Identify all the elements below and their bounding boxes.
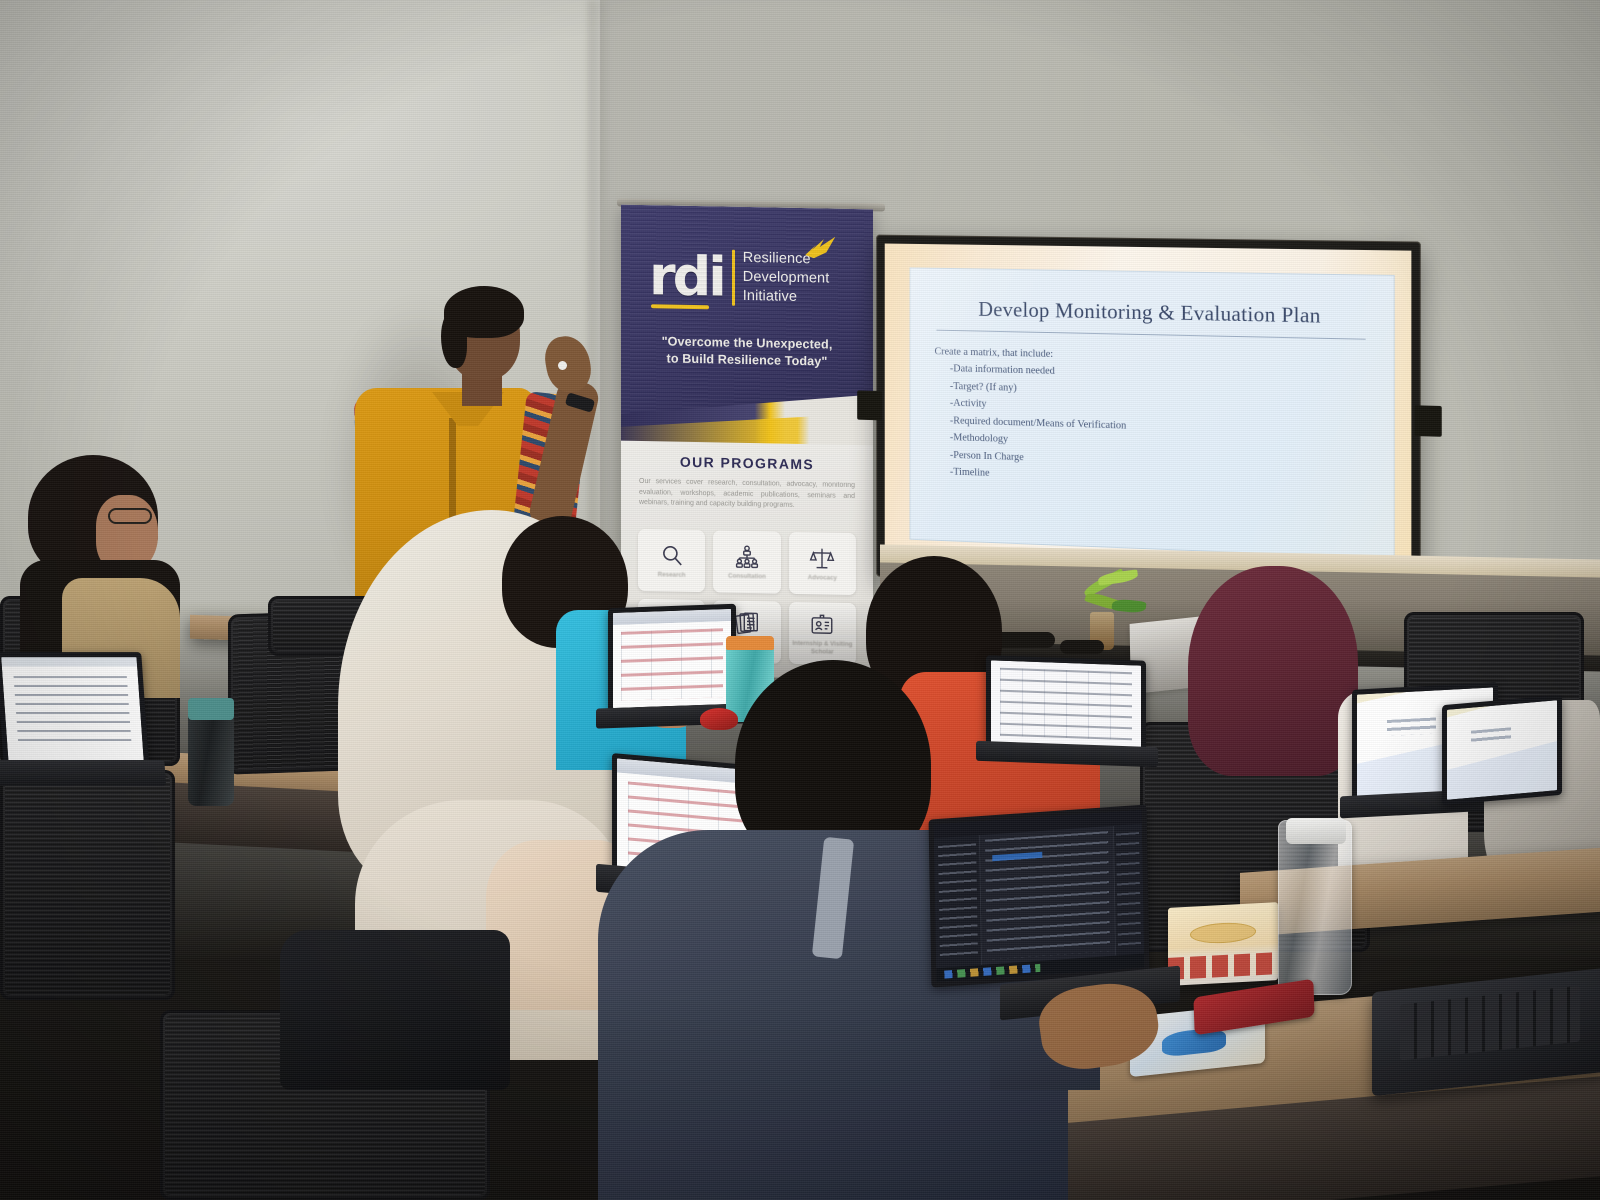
tagline-line-1: "Overcome the Unexpected, — [635, 333, 859, 354]
program-tile-advocacy: Advocacy — [789, 532, 856, 595]
slide-divider — [936, 330, 1365, 340]
programs-description: Our services cover research, consultatio… — [639, 477, 855, 513]
tumbler-dark-lid — [188, 698, 234, 720]
presenter-hair-side — [441, 310, 467, 368]
scales-icon — [809, 545, 835, 571]
slide-title: Develop Monitoring & Evaluation Plan — [934, 296, 1367, 329]
laptop-center-back[interactable] — [986, 655, 1146, 753]
backpack — [280, 930, 510, 1090]
photo-scene: rdi Resilience Development Initiative "O… — [0, 0, 1600, 1200]
mouse-red[interactable] — [700, 708, 738, 730]
wing-icon — [805, 236, 835, 259]
laptop-foreground[interactable] — [929, 804, 1150, 987]
display-mount-right — [1415, 405, 1442, 437]
program-tile-research: Research — [638, 529, 705, 592]
water-jug-cap — [1286, 818, 1346, 844]
presenter-finger-gap — [558, 361, 567, 370]
org-line-2: Development — [743, 268, 830, 289]
org-line-3: Initiative — [743, 287, 830, 308]
water-jug[interactable] — [1278, 820, 1352, 995]
tissue-box-label — [1190, 921, 1256, 944]
banner-tagline: "Overcome the Unexpected, to Build Resil… — [621, 333, 873, 372]
programs-title: OUR PROGRAMS — [621, 453, 873, 474]
tissue-box[interactable] — [1168, 902, 1278, 986]
magnifier-icon — [659, 542, 685, 568]
program-tile-consultation: Consultation — [713, 530, 780, 593]
laptop-right-edge[interactable] — [1442, 695, 1562, 805]
display-mount-left — [857, 390, 882, 420]
tagline-line-2: to Build Resilience Today" — [635, 350, 859, 371]
tumbler-teal-lid — [726, 636, 774, 650]
display-panel: Develop Monitoring & Evaluation Plan Cre… — [885, 244, 1412, 591]
participant-maroon-hijab — [1188, 566, 1358, 776]
people-group-icon — [734, 544, 760, 570]
org-line-1: Resilience — [743, 249, 830, 270]
rdi-logo: rdi Resilience Development Initiative — [649, 247, 829, 307]
program-label: Consultation — [728, 572, 766, 580]
glasses-icon — [108, 508, 152, 524]
organization-name: Resilience Development Initiative — [743, 249, 830, 308]
logo-divider-bar — [732, 249, 735, 305]
program-label: Advocacy — [808, 574, 837, 582]
tissue-box-band — [1168, 952, 1278, 980]
presentation-slide: Develop Monitoring & Evaluation Plan Cre… — [910, 267, 1395, 559]
laptop-left-base[interactable] — [0, 760, 166, 786]
program-label: Research — [658, 571, 686, 579]
logo-underline — [651, 304, 709, 309]
office-chair[interactable] — [0, 770, 175, 1000]
laptop-turquoise[interactable] — [608, 604, 736, 713]
rdi-logo-text: rdi — [649, 254, 724, 299]
laptop-left[interactable] — [0, 652, 149, 767]
